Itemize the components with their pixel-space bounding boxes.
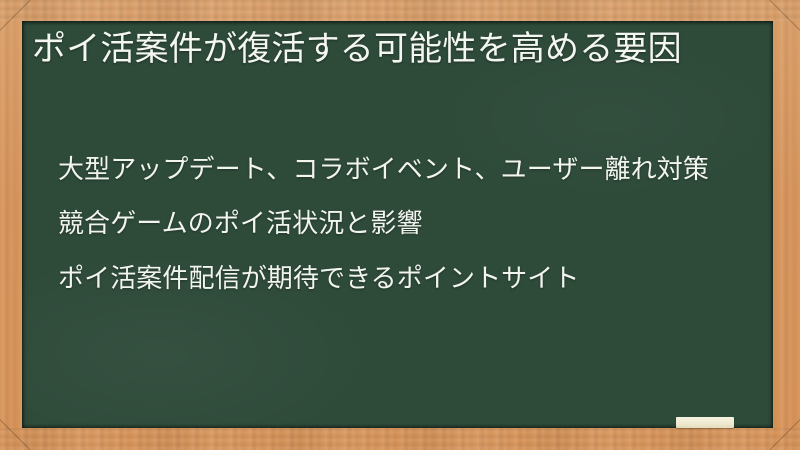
frame-rail-top — [0, 0, 800, 22]
list-item: ポイ活案件配信が期待できるポイントサイト — [58, 260, 758, 296]
chalkboard-frame: ポイ活案件が復活する可能性を高める要因 大型アップデート、コラボイベント、ユーザ… — [0, 0, 800, 450]
slide-bullet-list: 大型アップデート、コラボイベント、ユーザー離れ対策 競合ゲームのポイ活状況と影響… — [58, 151, 758, 296]
slide-title: ポイ活案件が復活する可能性を高める要因 — [32, 27, 752, 72]
chalkboard-surface: ポイ活案件が復活する可能性を高める要因 大型アップデート、コラボイベント、ユーザ… — [22, 21, 773, 428]
list-item: 競合ゲームのポイ活状況と影響 — [58, 205, 758, 241]
chalk-stick — [676, 417, 734, 428]
list-item: 大型アップデート、コラボイベント、ユーザー離れ対策 — [58, 151, 758, 187]
frame-rail-bottom — [0, 428, 800, 450]
